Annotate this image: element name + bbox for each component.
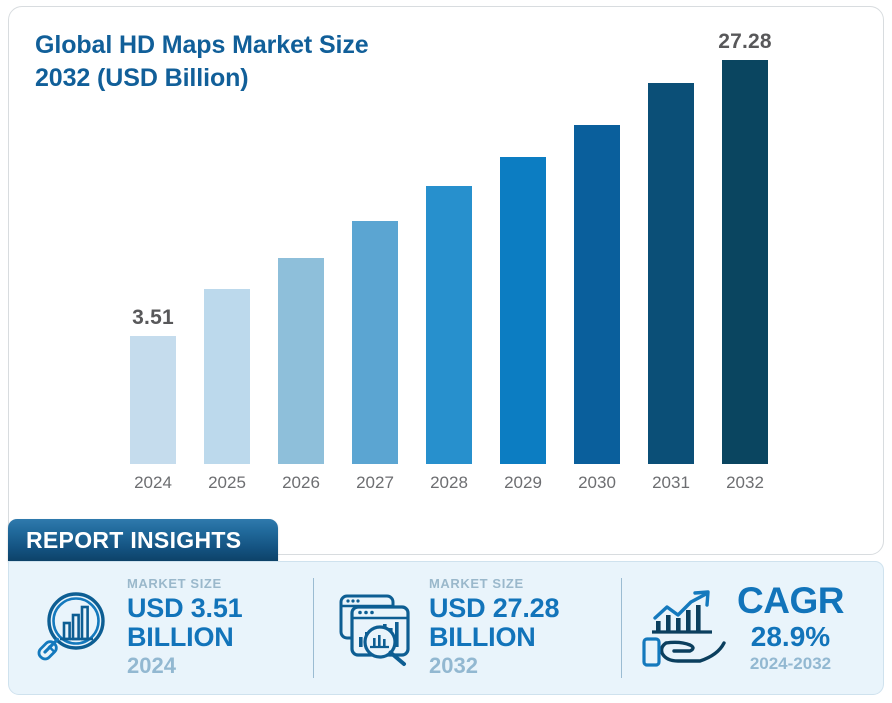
bar-column: 2026 <box>278 7 324 464</box>
bar-2026[interactable] <box>278 258 324 464</box>
report-insights-label: REPORT INSIGHTS <box>26 527 241 554</box>
bar-2029[interactable] <box>500 157 546 464</box>
bar-chart-plot: 3.512024202520262027202820292030203127.2… <box>9 7 885 556</box>
bar-2027[interactable] <box>352 221 398 464</box>
x-axis-tick-2032: 2032 <box>685 473 805 493</box>
bar-value-label-2024: 3.51 <box>93 306 213 330</box>
bar-column: 2030 <box>574 7 620 464</box>
bar-column: 2031 <box>648 7 694 464</box>
insight-value-line2-2024: BILLION <box>127 623 242 652</box>
cagr-range: 2024-2032 <box>737 654 844 674</box>
cagr-value: 28.9% <box>737 621 844 653</box>
bar-column: 3.512024 <box>130 7 176 464</box>
cagr-title: CAGR <box>737 582 844 619</box>
bar-value-label-2032: 27.28 <box>685 30 805 54</box>
insight-card-market-size-2032: MARKET SIZE USD 27.28 BILLION 2032 <box>313 562 621 694</box>
bar-column: 2027 <box>352 7 398 464</box>
hand-growth-chart-icon <box>633 585 737 671</box>
insight-card-cagr: CAGR 28.9% 2024-2032 <box>621 562 883 694</box>
magnifier-bar-chart-icon <box>27 585 123 671</box>
insight-text-2024: MARKET SIZE USD 3.51 BILLION 2024 <box>123 577 242 680</box>
insight-year-2032: 2032 <box>429 653 559 679</box>
infographic-root: Global HD Maps Market Size 2032 (USD Bil… <box>0 0 892 703</box>
bar-2030[interactable] <box>574 125 620 464</box>
report-insights-banner: REPORT INSIGHTS <box>8 519 278 561</box>
bar-2032[interactable] <box>722 60 768 464</box>
bar-2024[interactable] <box>130 336 176 464</box>
insight-year-2024: 2024 <box>127 653 242 679</box>
bar-column: 27.282032 <box>722 7 768 464</box>
insight-text-2032: MARKET SIZE USD 27.28 BILLION 2032 <box>425 577 559 680</box>
report-insights-panel: MARKET SIZE USD 3.51 BILLION 2024 <box>8 561 884 695</box>
insight-kicker-2024: MARKET SIZE <box>127 577 242 591</box>
chart-card: Global HD Maps Market Size 2032 (USD Bil… <box>8 6 884 555</box>
bar-2025[interactable] <box>204 289 250 464</box>
insight-kicker-2032: MARKET SIZE <box>429 577 559 591</box>
bar-2031[interactable] <box>648 83 694 464</box>
insight-value-line2-2032: BILLION <box>429 623 559 652</box>
insight-card-market-size-2024: MARKET SIZE USD 3.51 BILLION 2024 <box>9 562 313 694</box>
insight-value-line1-2032: USD 27.28 <box>429 594 559 623</box>
bar-column: 2029 <box>500 7 546 464</box>
bar-2028[interactable] <box>426 186 472 464</box>
insight-text-cagr: CAGR 28.9% 2024-2032 <box>737 582 844 675</box>
insight-value-line1-2024: USD 3.51 <box>127 594 242 623</box>
bar-column: 2025 <box>204 7 250 464</box>
windows-chart-magnifier-icon <box>329 585 425 671</box>
bar-column: 2028 <box>426 7 472 464</box>
